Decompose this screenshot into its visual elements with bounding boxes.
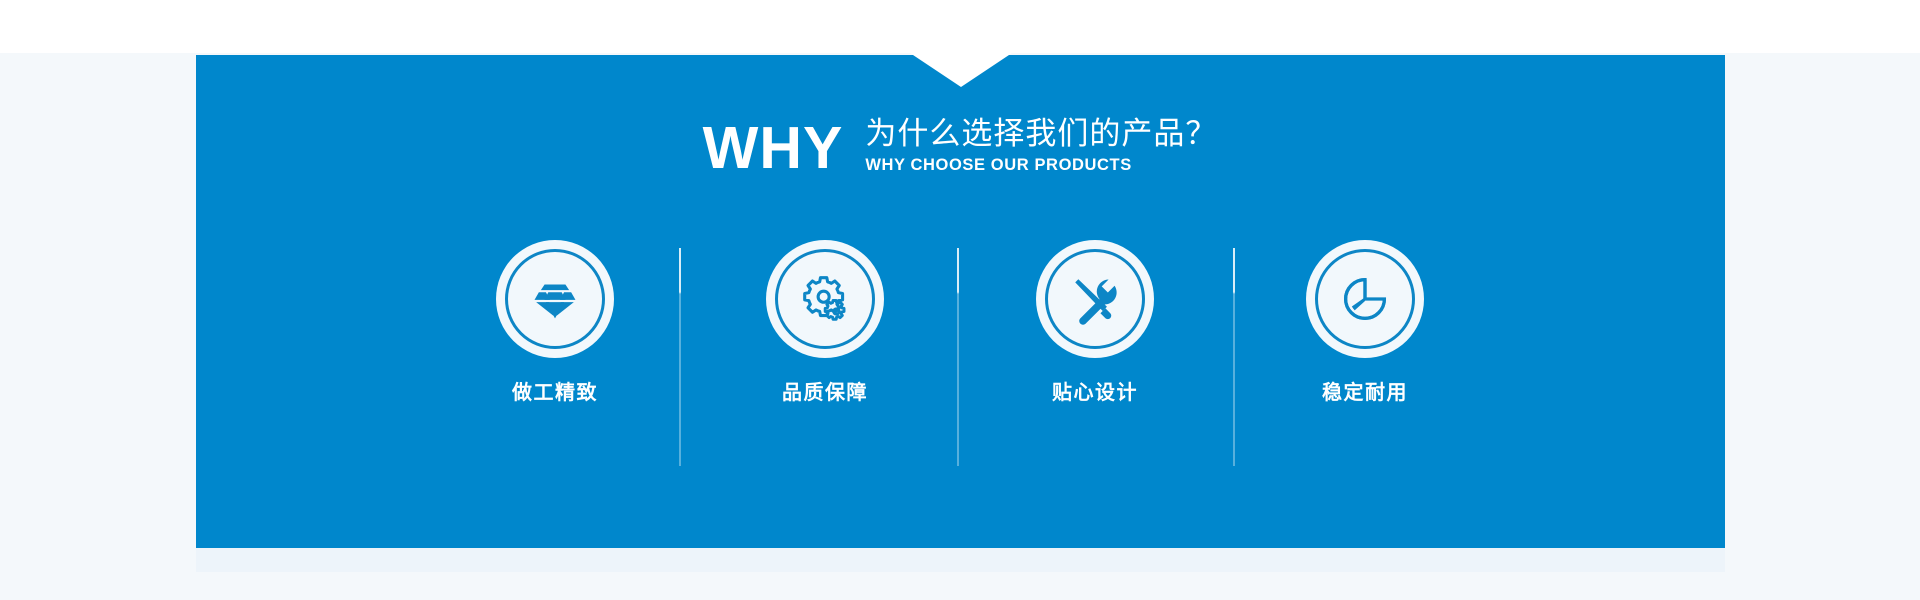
diamond-icon xyxy=(496,240,614,358)
diamond-icon-glyph xyxy=(526,270,584,328)
panel-shadow-strip xyxy=(196,548,1725,572)
feature-item-quality[interactable]: 品质保障 xyxy=(690,240,960,403)
section-heading: WHY 为什么选择我们的产品？ WHY CHOOSE OUR PRODUCTS xyxy=(0,116,1920,176)
feature-item-craftsmanship[interactable]: 做工精致 xyxy=(420,240,690,403)
feature-label: 做工精致 xyxy=(512,383,598,403)
feature-list: 做工精致 品质保障 xyxy=(420,240,1500,403)
gears-icon-glyph xyxy=(796,270,854,328)
tools-icon-glyph xyxy=(1066,270,1124,328)
feature-label: 品质保障 xyxy=(782,383,868,403)
gears-icon xyxy=(766,240,884,358)
feature-label: 稳定耐用 xyxy=(1322,383,1408,403)
tools-icon xyxy=(1036,240,1154,358)
top-notch-triangle xyxy=(910,53,1012,87)
page-title: 为什么选择我们的产品？ xyxy=(865,116,1217,152)
feature-item-durability[interactable]: 稳定耐用 xyxy=(1230,240,1500,403)
heading-text-block: 为什么选择我们的产品？ WHY CHOOSE OUR PRODUCTS xyxy=(865,116,1217,176)
feature-item-design[interactable]: 贴心设计 xyxy=(960,240,1230,403)
heading-why-word: WHY xyxy=(703,119,844,178)
feature-label: 贴心设计 xyxy=(1052,383,1138,403)
stopwatch-icon-glyph xyxy=(1336,270,1394,328)
page-subtitle: WHY CHOOSE OUR PRODUCTS xyxy=(865,155,1217,176)
why-choose-us-banner: WHY 为什么选择我们的产品？ WHY CHOOSE OUR PRODUCTS xyxy=(0,0,1920,600)
stopwatch-icon xyxy=(1306,240,1424,358)
